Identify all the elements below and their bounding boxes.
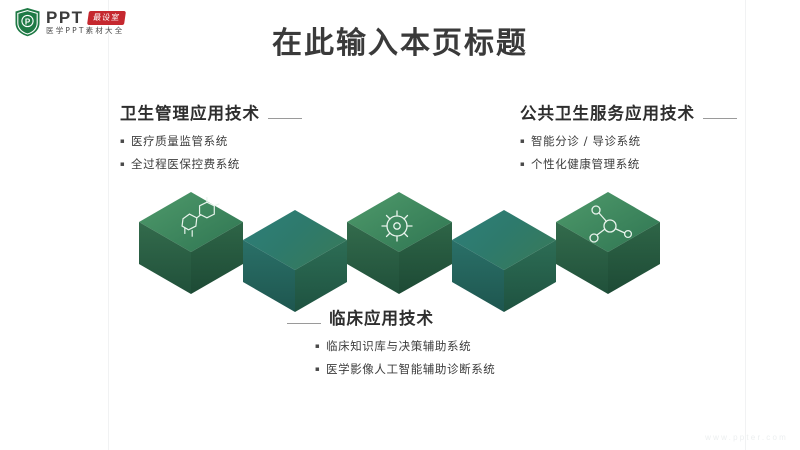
cube-2	[243, 210, 347, 312]
list-item: 个性化健康管理系统	[520, 158, 737, 172]
block-left-heading-row: 卫生管理应用技术	[120, 105, 302, 123]
slide-canvas: P PPT 最设室 医学PPT素材大全 在此输入本页标题 卫生管理应用技术 医疗…	[0, 0, 800, 450]
list-item: 医疗质量监管系统	[120, 135, 302, 149]
footer-watermark: www.ppter.com	[705, 433, 788, 442]
list-item: 医学影像人工智能辅助诊断系统	[315, 363, 495, 377]
isometric-cube-graphic	[138, 190, 663, 315]
list-item: 全过程医保控费系统	[120, 158, 302, 172]
content-block-bottom: 临床应用技术 临床知识库与决策辅助系统 医学影像人工智能辅助诊断系统	[287, 310, 495, 386]
content-block-right: 公共卫生服务应用技术 智能分诊 / 导诊系统 个性化健康管理系统	[520, 105, 737, 181]
block-bottom-heading-row: 临床应用技术	[287, 310, 495, 328]
block-bottom-heading: 临床应用技术	[329, 310, 434, 328]
guide-line-right	[745, 0, 746, 450]
guide-line-left	[108, 0, 109, 450]
cube-3	[347, 192, 452, 294]
block-left-heading: 卫生管理应用技术	[120, 105, 260, 123]
heading-rule-icon	[287, 323, 321, 325]
page-title: 在此输入本页标题	[0, 18, 800, 62]
block-right-heading: 公共卫生服务应用技术	[520, 105, 695, 123]
heading-rule-icon	[703, 118, 737, 120]
cube-1	[139, 192, 243, 294]
list-item: 智能分诊 / 导诊系统	[520, 135, 737, 149]
block-right-heading-row: 公共卫生服务应用技术	[520, 105, 737, 123]
content-block-left: 卫生管理应用技术 医疗质量监管系统 全过程医保控费系统	[120, 105, 302, 181]
block-right-list: 智能分诊 / 导诊系统 个性化健康管理系统	[520, 135, 737, 172]
list-item: 临床知识库与决策辅助系统	[315, 340, 495, 354]
block-bottom-list: 临床知识库与决策辅助系统 医学影像人工智能辅助诊断系统	[287, 340, 495, 377]
block-left-list: 医疗质量监管系统 全过程医保控费系统	[120, 135, 302, 172]
cube-5	[556, 192, 660, 294]
heading-rule-icon	[268, 118, 302, 120]
cube-4	[452, 210, 556, 312]
